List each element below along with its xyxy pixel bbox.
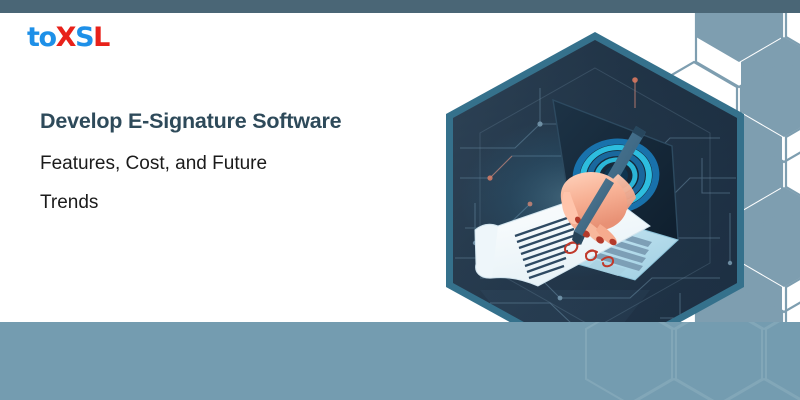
logo-part-s: S — [75, 22, 93, 53]
logo-toxsl[interactable]: toXSL — [27, 24, 109, 51]
logo-part-to: to — [27, 22, 56, 53]
top-accent-bar — [0, 0, 800, 13]
bottom-hex-outlines — [586, 322, 800, 400]
banner-subline-1: Features, Cost, and Future — [40, 152, 430, 176]
logo-part-l: L — [93, 22, 109, 53]
logo-part-x: X — [56, 22, 75, 53]
bottom-accent-bar — [0, 322, 800, 400]
banner-headline: Develop E-Signature Software — [40, 108, 430, 135]
banner-root: toXSL Develop E-Signature Software Featu… — [0, 0, 800, 400]
banner-copy: Develop E-Signature Software Features, C… — [40, 108, 430, 231]
banner-subline-2: Trends — [40, 191, 430, 215]
